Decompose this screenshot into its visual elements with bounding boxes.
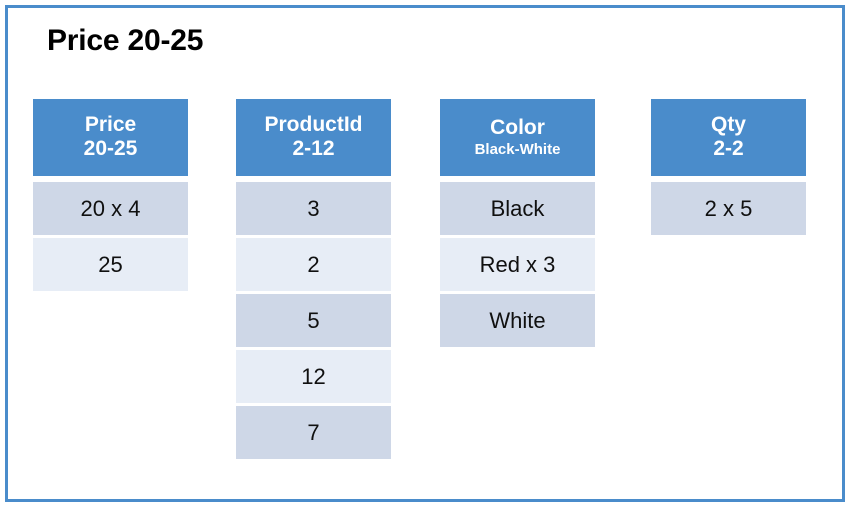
column-cells-color: BlackRed x 3White	[440, 182, 595, 347]
column-header-range: 2-2	[713, 138, 743, 161]
column-header-productid[interactable]: ProductId2-12	[236, 99, 391, 176]
column-qty: Qty2-22 x 5	[651, 99, 806, 235]
cell[interactable]: Red x 3	[440, 238, 595, 291]
cell[interactable]: 3	[236, 182, 391, 235]
cell[interactable]: 20 x 4	[33, 182, 188, 235]
column-header-title: Qty	[711, 114, 746, 137]
column-header-title: Color	[490, 117, 545, 140]
column-header-qty[interactable]: Qty2-2	[651, 99, 806, 176]
column-header-range: 20-25	[84, 138, 138, 161]
column-header-title: ProductId	[265, 114, 363, 137]
column-header-color[interactable]: ColorBlack-White	[440, 99, 595, 176]
cell[interactable]: 2	[236, 238, 391, 291]
cell[interactable]: 7	[236, 406, 391, 459]
cell[interactable]: 25	[33, 238, 188, 291]
slide-canvas: Price 20-25 Price20-2520 x 425ProductId2…	[0, 0, 850, 507]
column-header-range: Black-White	[475, 142, 561, 158]
column-group: Price20-2520 x 425ProductId2-12325127Col…	[33, 99, 823, 479]
cell[interactable]: White	[440, 294, 595, 347]
column-header-title: Price	[85, 114, 136, 137]
cell[interactable]: 2 x 5	[651, 182, 806, 235]
column-cells-qty: 2 x 5	[651, 182, 806, 235]
column-productid: ProductId2-12325127	[236, 99, 391, 459]
column-cells-productid: 325127	[236, 182, 391, 459]
column-cells-price: 20 x 425	[33, 182, 188, 291]
column-header-range: 2-12	[292, 138, 334, 161]
cell[interactable]: 5	[236, 294, 391, 347]
page-title: Price 20-25	[47, 24, 203, 58]
column-color: ColorBlack-WhiteBlackRed x 3White	[440, 99, 595, 347]
cell[interactable]: 12	[236, 350, 391, 403]
cell[interactable]: Black	[440, 182, 595, 235]
column-price: Price20-2520 x 425	[33, 99, 188, 291]
column-header-price[interactable]: Price20-25	[33, 99, 188, 176]
